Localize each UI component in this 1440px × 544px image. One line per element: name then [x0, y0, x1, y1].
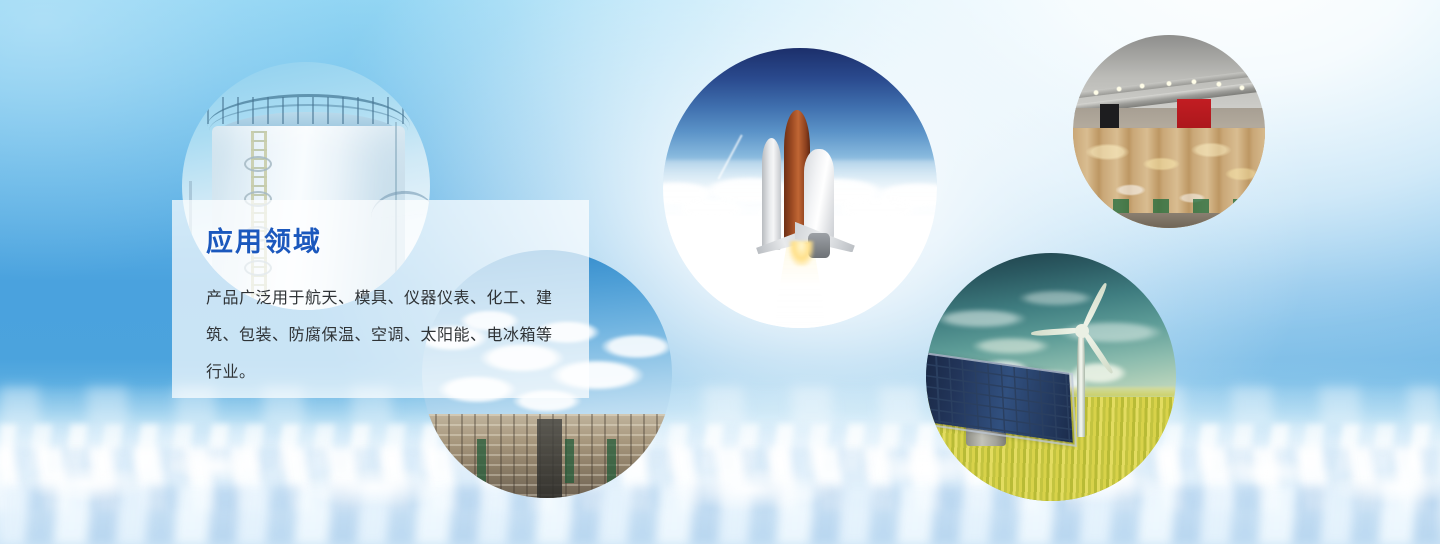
green-safety-net: [565, 439, 574, 484]
warehouse-dark-panel: [1100, 104, 1119, 129]
application-fields-banner: 应用领域 产品广泛用于航天、模具、仪器仪表、化工、建筑、包装、防腐保温、空调、太…: [0, 0, 1440, 544]
application-fields-description: 产品广泛用于航天、模具、仪器仪表、化工、建筑、包装、防腐保温、空调、太阳能、电冰…: [206, 280, 558, 391]
wind-turbine-tower: [1077, 327, 1085, 436]
shuttle-engine-flame: [789, 241, 814, 266]
green-safety-net: [477, 439, 486, 484]
warehouse-floor: [1073, 213, 1265, 228]
green-safety-net: [607, 439, 616, 484]
warehouse-photo: [1073, 35, 1265, 228]
cloud-sea: [0, 384, 1440, 544]
circle-photo-solar-and-wind-energy[interactable]: [926, 253, 1176, 501]
building-central-shaft: [537, 419, 562, 498]
energy-photo: [926, 253, 1176, 501]
warehouse-ceiling-lights: [1073, 74, 1265, 105]
cloud-puffs: [0, 428, 1440, 524]
circle-photo-packaging-warehouse[interactable]: [1073, 35, 1265, 228]
shuttle-photo: [663, 48, 937, 328]
page-title: 应用领域: [206, 228, 555, 258]
tank-railing-posts: [207, 97, 410, 124]
wind-turbine-hub: [1075, 324, 1089, 338]
circle-photo-space-shuttle-launch[interactable]: [663, 48, 937, 328]
application-fields-text-panel: 应用领域 产品广泛用于航天、模具、仪器仪表、化工、建筑、包装、防腐保温、空调、太…: [172, 200, 589, 398]
shuttle-solid-rocket-booster: [762, 138, 781, 250]
